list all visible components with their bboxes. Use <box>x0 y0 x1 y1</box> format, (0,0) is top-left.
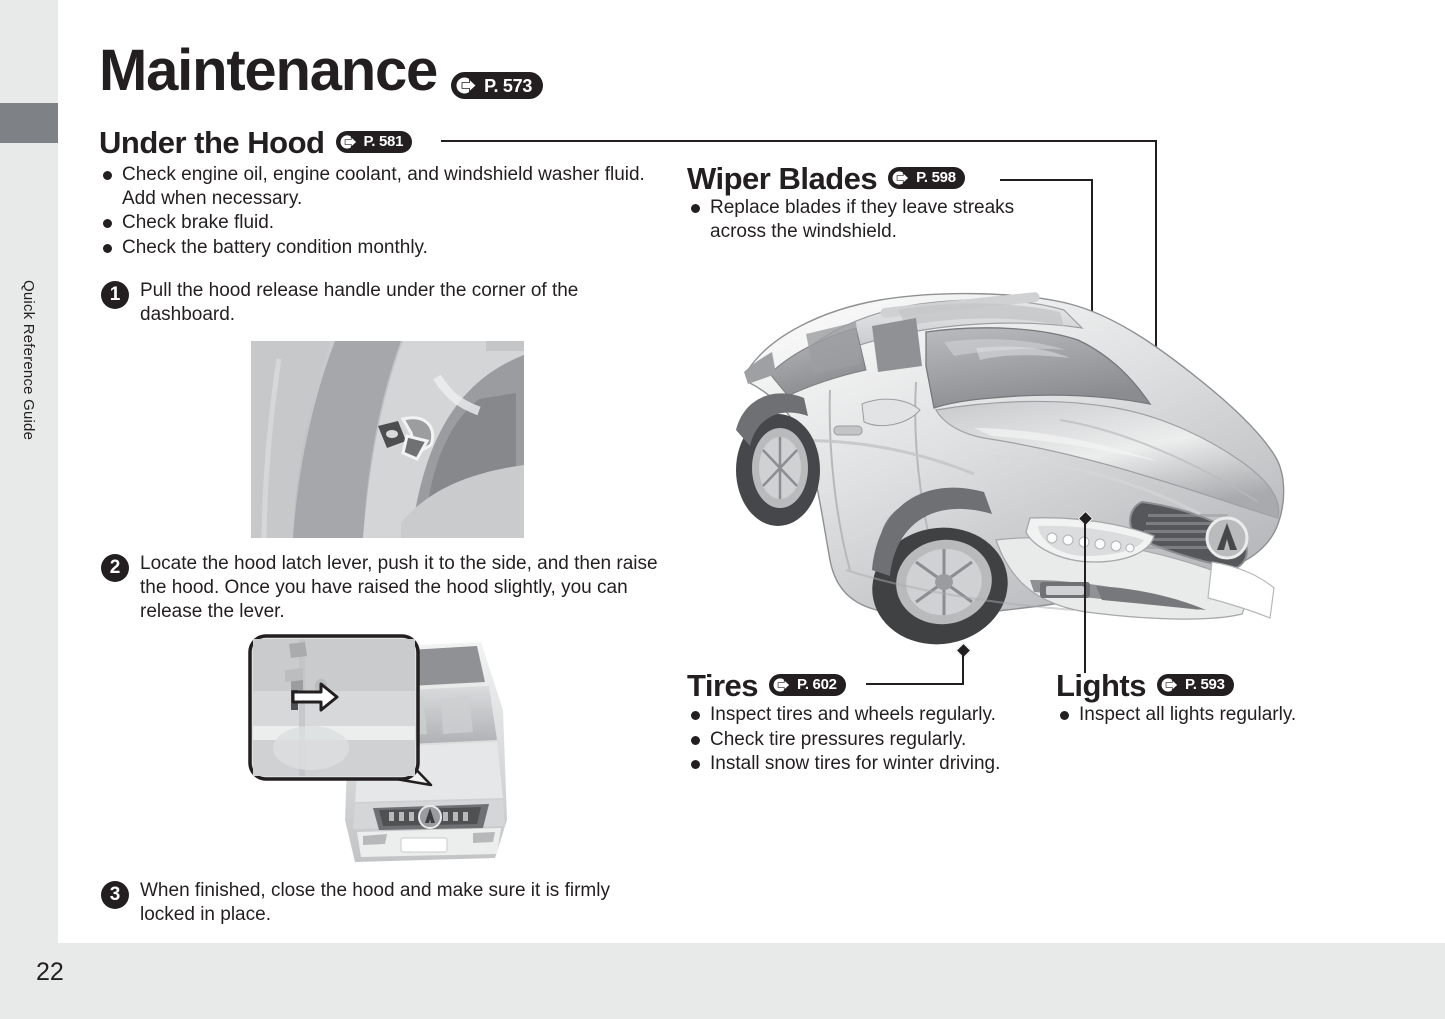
hood-latch-lever-photo <box>245 630 535 870</box>
section-heading-wiper-blades: Wiper Blades P. 598 <box>687 163 965 194</box>
index-tab-marker <box>0 103 58 143</box>
list-item: Inspect tires and wheels regularly. <box>689 703 1029 727</box>
section-heading-text: Under the Hood <box>99 127 325 158</box>
bullet-list-under-the-hood: Check engine oil, engine coolant, and wi… <box>101 163 646 260</box>
page-ref-badge-maintenance[interactable]: P. 573 <box>451 72 543 99</box>
bullet-list-lights: Inspect all lights regularly. <box>1058 703 1388 728</box>
arrow-right-icon <box>773 678 793 692</box>
leader-line-tires-h <box>866 683 964 685</box>
page-ref-text: P. 602 <box>797 677 837 692</box>
section-heading-text: Tires <box>687 670 758 701</box>
arrow-right-icon <box>340 135 360 149</box>
section-heading-under-the-hood: Under the Hood P. 581 <box>99 127 412 158</box>
page-number: 22 <box>36 958 64 987</box>
page-ref-badge-wiper-blades[interactable]: P. 598 <box>888 167 965 189</box>
leader-line-under-the-hood-h <box>441 140 1157 142</box>
step-3: 3 When finished, close the hood and make… <box>101 879 661 927</box>
step-text: Locate the hood latch lever, push it to … <box>140 552 681 623</box>
list-item: Replace blades if they leave streaks acr… <box>689 196 1039 243</box>
bullet-list-tires: Inspect tires and wheels regularly. Chec… <box>689 703 1029 777</box>
list-item: Inspect all lights regularly. <box>1058 703 1388 727</box>
sidebar-tab-label: Quick Reference Guide <box>0 280 58 550</box>
step-1: 1 Pull the hood release handle under the… <box>101 279 641 327</box>
page-title: Maintenance P. 573 <box>99 42 543 100</box>
leader-line-lights-v <box>1084 519 1086 673</box>
section-heading-tires: Tires P. 602 <box>687 670 846 701</box>
step-text: When finished, close the hood and make s… <box>140 879 661 927</box>
step-number: 1 <box>101 281 129 309</box>
arrow-right-icon <box>892 171 912 185</box>
page-ref-badge-lights[interactable]: P. 593 <box>1157 674 1234 696</box>
page-ref-badge-tires[interactable]: P. 602 <box>769 674 846 696</box>
list-item: Check tire pressures regularly. <box>689 728 1029 752</box>
page-ref-text: P. 593 <box>1185 677 1225 692</box>
step-2: 2 Locate the hood latch lever, push it t… <box>101 552 681 623</box>
list-item: Install snow tires for winter driving. <box>689 752 1029 776</box>
bullet-list-wiper-blades: Replace blades if they leave streaks acr… <box>689 196 1039 244</box>
section-heading-text: Wiper Blades <box>687 163 877 194</box>
list-item: Check the battery condition monthly. <box>101 236 646 260</box>
page-ref-text: P. 598 <box>916 170 956 185</box>
arrow-right-icon <box>456 77 480 94</box>
manual-page: Quick Reference Guide 22 Maintenance P. … <box>0 0 1445 1019</box>
page-ref-badge-under-the-hood[interactable]: P. 581 <box>336 131 413 153</box>
list-item: Check brake fluid. <box>101 211 646 235</box>
section-heading-lights: Lights P. 593 <box>1056 670 1234 701</box>
hood-release-handle-photo <box>251 341 524 538</box>
section-heading-text: Lights <box>1056 670 1146 701</box>
leader-line-tires-v <box>962 651 964 685</box>
step-number: 2 <box>101 554 129 582</box>
index-tab-strip: Quick Reference Guide <box>0 143 58 943</box>
step-number: 3 <box>101 881 129 909</box>
list-item: Check engine oil, engine coolant, and wi… <box>101 163 646 210</box>
leader-line-wiper-h <box>1000 179 1093 181</box>
vehicle-illustration <box>730 270 1290 670</box>
page-ref-text: P. 581 <box>364 134 404 149</box>
arrow-right-icon <box>1161 678 1181 692</box>
page-title-text: Maintenance <box>99 42 437 100</box>
step-text: Pull the hood release handle under the c… <box>140 279 641 327</box>
page-ref-text: P. 573 <box>484 77 532 95</box>
